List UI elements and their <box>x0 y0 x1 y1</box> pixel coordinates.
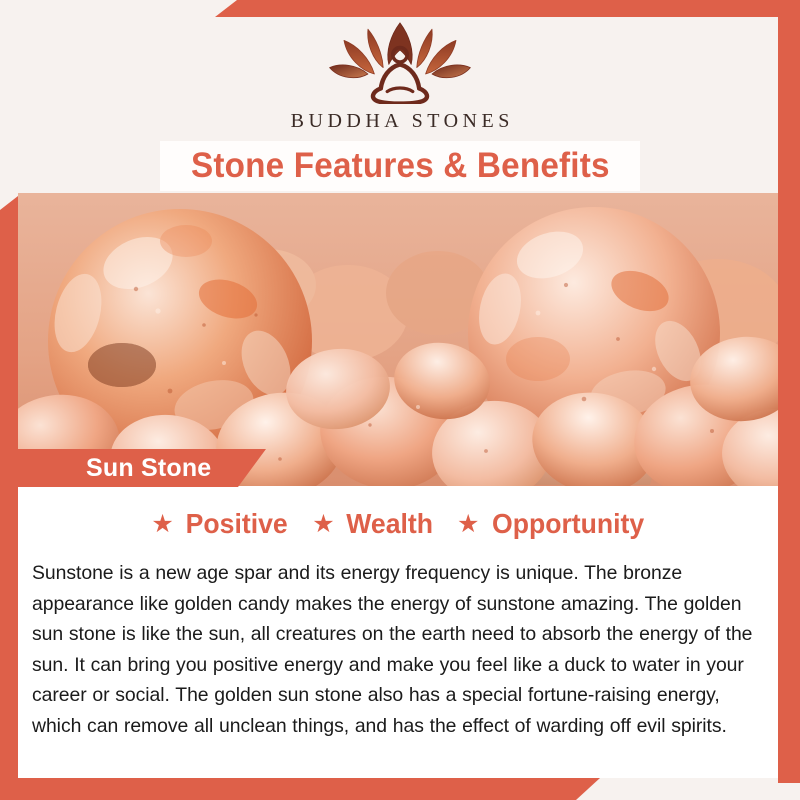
stone-photo <box>18 193 782 486</box>
frame-accent-bottom <box>0 778 600 800</box>
brand-name: BUDDHA STONES <box>286 110 514 133</box>
description-card: ★ Positive ★ Wealth ★ Opportunity Sunsto… <box>18 486 782 778</box>
lotus-meditation-icon <box>320 18 480 104</box>
keyword-label: Wealth <box>346 508 433 540</box>
star-icon: ★ <box>151 512 173 537</box>
keyword-item-wealth: ★ Wealth <box>312 508 435 540</box>
keyword-label: Positive <box>186 508 288 540</box>
keyword-label: Opportunity <box>492 508 644 540</box>
stone-description: Sunstone is a new age spar and its energ… <box>32 558 768 741</box>
stone-name-label: Sun Stone <box>86 454 211 483</box>
frame-accent-right <box>778 0 800 783</box>
stone-infographic-card: BUDDHA STONES Stone Features & Benefits <box>0 0 800 800</box>
brand-block: BUDDHA STONES <box>0 18 800 133</box>
title-banner: Stone Features & Benefits <box>160 141 640 191</box>
star-icon: ★ <box>457 512 479 537</box>
page-title: Stone Features & Benefits <box>191 146 610 186</box>
star-icon: ★ <box>312 512 334 537</box>
stone-name-tab: Sun Stone <box>0 449 266 487</box>
keyword-item-positive: ★ Positive <box>151 508 290 540</box>
frame-accent-left <box>0 196 18 800</box>
frame-accent-top <box>215 0 800 17</box>
keyword-item-opportunity: ★ Opportunity <box>457 508 649 540</box>
keyword-list: ★ Positive ★ Wealth ★ Opportunity <box>18 486 782 540</box>
